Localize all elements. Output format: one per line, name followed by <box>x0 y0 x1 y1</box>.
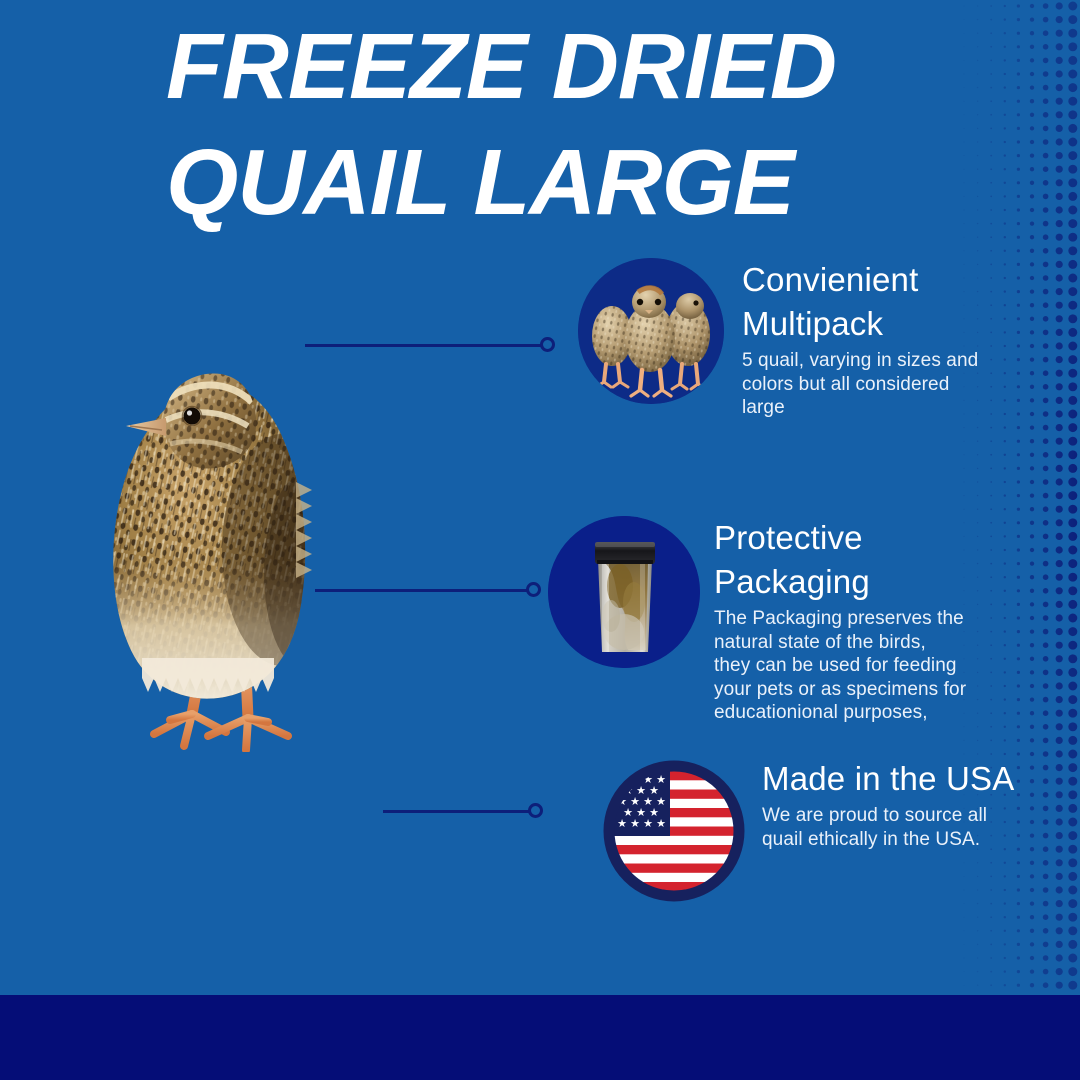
feature-body: We are proud to source all quail ethical… <box>762 801 1038 851</box>
connector-endpoint-dot <box>526 582 541 597</box>
svg-text:★: ★ <box>656 817 666 830</box>
feature-convenient-multipack: Convienient Multipack 5 quail, varying i… <box>578 258 996 420</box>
feature-text-block: Made in the USA We are proud to source a… <box>748 757 1038 851</box>
bottom-color-band <box>0 995 1080 1080</box>
svg-text:★: ★ <box>643 817 653 830</box>
quail-bird-photo <box>96 322 368 752</box>
feature-made-in-usa: ★★★★ ★★★ ★★★★ ★★★ ★★★★ Made in the USA W… <box>600 757 1038 905</box>
connector-endpoint-dot <box>540 337 555 352</box>
feature-title: Made in the USA <box>762 757 1038 801</box>
svg-text:★: ★ <box>630 817 640 830</box>
feature-title: Convienient Multipack <box>742 258 996 346</box>
connector-line-stroke <box>383 810 533 813</box>
feature-text-block: Convienient Multipack 5 quail, varying i… <box>724 258 996 420</box>
connector-line-3 <box>383 803 543 819</box>
connector-endpoint-dot <box>528 803 543 818</box>
product-infographic-poster: FREEZE DRIED QUAIL LARGE <box>0 0 1080 1080</box>
usa-flag-icon: ★★★★ ★★★ ★★★★ ★★★ ★★★★ <box>600 757 748 905</box>
feature-protective-packaging: Protective Packaging The Packaging prese… <box>548 516 982 725</box>
feature-title: Protective Packaging <box>714 516 982 604</box>
feature-body: The Packaging preserves the natural stat… <box>714 604 982 725</box>
page-title: FREEZE DRIED QUAIL LARGE <box>166 8 926 240</box>
feature-body: 5 quail, varying in sizes and colors but… <box>742 346 996 420</box>
connector-line-2 <box>315 582 541 598</box>
svg-text:★: ★ <box>617 817 627 830</box>
quail-jar-container-photo <box>548 516 700 668</box>
connector-line-stroke <box>305 344 545 347</box>
feature-text-block: Protective Packaging The Packaging prese… <box>700 516 982 725</box>
connector-line-1 <box>305 337 555 353</box>
three-quail-chicks-photo <box>578 258 724 404</box>
connector-line-stroke <box>315 589 531 592</box>
